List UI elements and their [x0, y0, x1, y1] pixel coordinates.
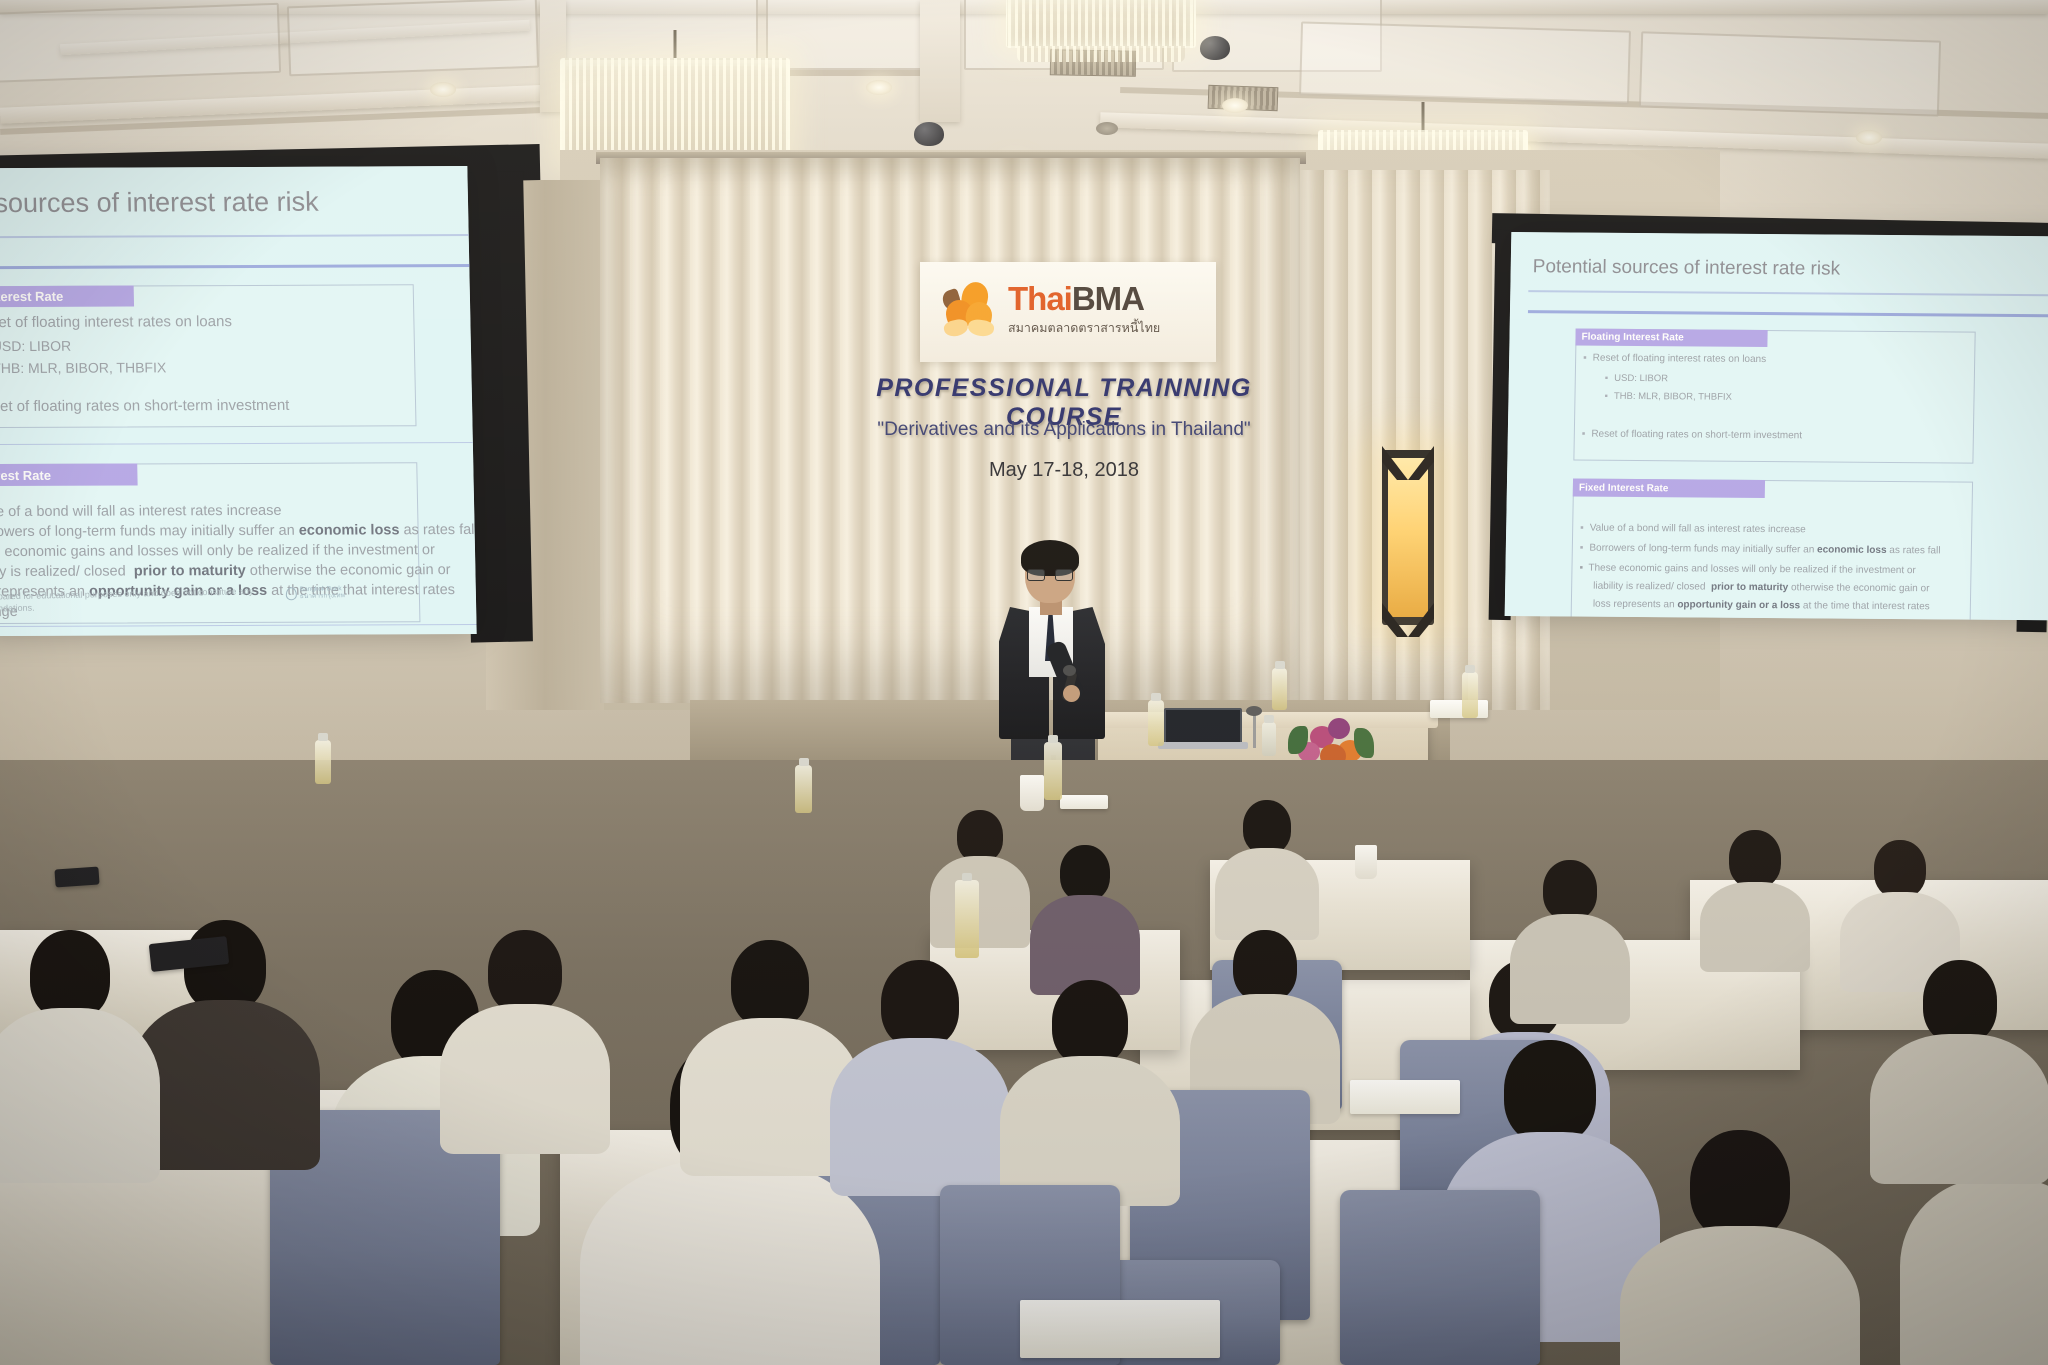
bottle-cap: [799, 758, 809, 766]
wall-sconce-lamp: [1382, 450, 1434, 625]
audience-member: [1215, 800, 1319, 930]
left-bullet-3: THB: MLR, BIBOR, THBFIX: [0, 359, 166, 376]
chair: [1340, 1190, 1540, 1365]
torso: [1000, 1056, 1180, 1206]
thaibma-wordmark-bma: BMA: [1072, 280, 1144, 317]
water-bottle[interactable]: [1148, 700, 1164, 746]
thaibma-logo-plate: ThaiBMA สมาคมตลาดตราสารหนี้ไทย: [920, 262, 1216, 362]
drinking-glass[interactable]: [1355, 845, 1377, 879]
bank-drop-icon: [286, 587, 297, 600]
laptop[interactable]: [1164, 708, 1242, 744]
smoke-detector: [1096, 122, 1118, 135]
audience-member: [1840, 840, 1960, 980]
floating-bullet-4: Reset of floating rates on short-term in…: [1582, 429, 1802, 442]
ceiling-downlight: [1856, 130, 1882, 145]
left-slide-title: al sources of interest rate risk: [0, 187, 319, 220]
head: [881, 960, 959, 1048]
water-bottle[interactable]: [955, 880, 979, 958]
laptop-screen: [1164, 708, 1242, 744]
torso: [830, 1038, 1010, 1196]
notebook[interactable]: [1350, 1080, 1460, 1114]
left-bullet-4: Reset of floating rates on short-term in…: [0, 397, 290, 415]
audience-member: [930, 810, 1030, 940]
ceiling-downlight: [430, 82, 456, 97]
audience-member: [440, 930, 610, 1140]
head: [1543, 860, 1597, 920]
water-bottle[interactable]: [1262, 722, 1276, 756]
torso: [440, 1004, 610, 1154]
banner-course-date: May 17-18, 2018: [828, 459, 1300, 482]
bottle-cap: [1465, 665, 1475, 673]
drinking-glass[interactable]: [1020, 775, 1044, 811]
fixed-bullet-1: Value of a bond will fall as interest ra…: [1580, 523, 1806, 536]
head: [1243, 800, 1291, 854]
left-bullet-5: Value of a bond will fall as interest ra…: [0, 503, 282, 520]
head: [1690, 1130, 1790, 1240]
floating-rate-tag: Floating Interest Rate: [1575, 329, 1767, 348]
head: [488, 930, 562, 1014]
left-bullet-2: USD: LIBOR: [0, 338, 71, 354]
left-floating-rate-tag: ating Interest Rate: [0, 285, 134, 307]
head: [1874, 840, 1926, 898]
lotus-logo-icon: [942, 282, 1004, 340]
security-camera-icon: [1200, 36, 1230, 60]
bottle-cap: [962, 873, 972, 881]
left-slide-page-number: 3: [398, 586, 403, 595]
left-projection-screen: al sources of interest rate risk ating I…: [0, 166, 477, 636]
event-banner: ThaiBMA สมาคมตลาดตราสารหนี้ไทย PROFESSIO…: [828, 262, 1300, 502]
water-bottle[interactable]: [795, 765, 812, 813]
left-footer-bank-th: ธนาคารกรุงเทพ: [300, 592, 345, 600]
head: [1052, 980, 1128, 1066]
audience-member: [1620, 1130, 1860, 1365]
notebook[interactable]: [1430, 700, 1488, 718]
thaibma-wordmark: ThaiBMA: [1008, 280, 1144, 318]
notebook[interactable]: [1020, 1300, 1220, 1358]
torso: [1700, 882, 1810, 972]
torso: [1510, 914, 1630, 1024]
bottle-cap: [1151, 693, 1161, 701]
left-bullet-6: Borrowers of long-term funds may initial…: [0, 522, 477, 540]
water-bottle[interactable]: [1044, 742, 1062, 800]
fixed-rate-tag: Fixed Interest Rate: [1573, 479, 1765, 499]
chandelier: [1006, 0, 1196, 48]
audience-member: [1510, 860, 1630, 1010]
head: [731, 940, 809, 1028]
left-footer-text: s prepared for educational purposes only…: [0, 585, 254, 615]
torso: [1900, 1178, 2048, 1365]
notebook[interactable]: [1060, 795, 1108, 809]
right-projection-screen: Potential sources of interest rate risk …: [1505, 232, 2048, 620]
ceiling-downlight: [1222, 98, 1248, 113]
ceiling-downlight: [866, 80, 892, 95]
water-bottle[interactable]: [1462, 672, 1478, 718]
floating-bullet-2: USD: LIBOR: [1605, 373, 1668, 384]
head: [1060, 845, 1110, 901]
head: [1923, 960, 1997, 1044]
water-bottle[interactable]: [315, 740, 331, 784]
thaibma-wordmark-thai: Thai: [1008, 280, 1072, 317]
bottle-cap: [1264, 715, 1274, 723]
thaibma-logo-subtitle: สมาคมตลาดตราสารหนี้ไทย: [1008, 318, 1160, 338]
torso: [930, 856, 1030, 948]
audience-member: [1870, 960, 2048, 1160]
audience-member: [1000, 980, 1180, 1180]
bottle-cap: [1275, 661, 1285, 669]
audience-member: [830, 960, 1010, 1175]
left-fixed-rate-tag: ed Interest Rate: [0, 463, 138, 486]
head: [1233, 930, 1297, 1002]
head: [1729, 830, 1781, 888]
torso: [1215, 848, 1319, 940]
audience-member: [0, 930, 160, 1160]
microphone-head-icon: [1063, 665, 1076, 676]
left-bullet-7: hese economic gains and losses will only…: [0, 542, 435, 560]
bottle-cap: [318, 733, 328, 741]
audience-member: [1030, 845, 1140, 990]
water-bottle[interactable]: [1272, 668, 1287, 710]
eyeglasses-icon: [1027, 569, 1073, 581]
torso: [0, 1008, 160, 1183]
head: [1504, 1040, 1596, 1144]
torso: [1870, 1034, 2048, 1184]
bottle-cap: [1048, 735, 1058, 743]
torso: [1620, 1226, 1860, 1365]
table-microphone-head: [1246, 706, 1262, 716]
security-camera-icon: [914, 122, 944, 146]
seminar-room-photo: ThaiBMA สมาคมตลาดตราสารหนี้ไทย PROFESSIO…: [0, 0, 2048, 1365]
head: [30, 930, 110, 1020]
right-slide-title: Potential sources of interest rate risk: [1533, 256, 1841, 280]
presenter-hand: [1063, 685, 1080, 702]
table-microphone-stand: [1253, 712, 1256, 748]
laptop-base: [1158, 742, 1248, 749]
banner-course-subtitle: "Derivatives and its Applications in Tha…: [828, 419, 1300, 441]
floating-bullet-1: Reset of floating interest rates on loan…: [1583, 353, 1766, 365]
head: [957, 810, 1003, 862]
smartphone[interactable]: [54, 866, 99, 887]
left-bullet-1: Reset of floating interest rates on loan…: [0, 313, 232, 331]
left-footer-bank-logo: Bangkok Bank ธนาคารกรุงเทพ: [286, 585, 345, 600]
audience-member: [1700, 830, 1810, 960]
floating-bullet-3: THB: MLR, BIBOR, THBFIX: [1604, 391, 1732, 403]
